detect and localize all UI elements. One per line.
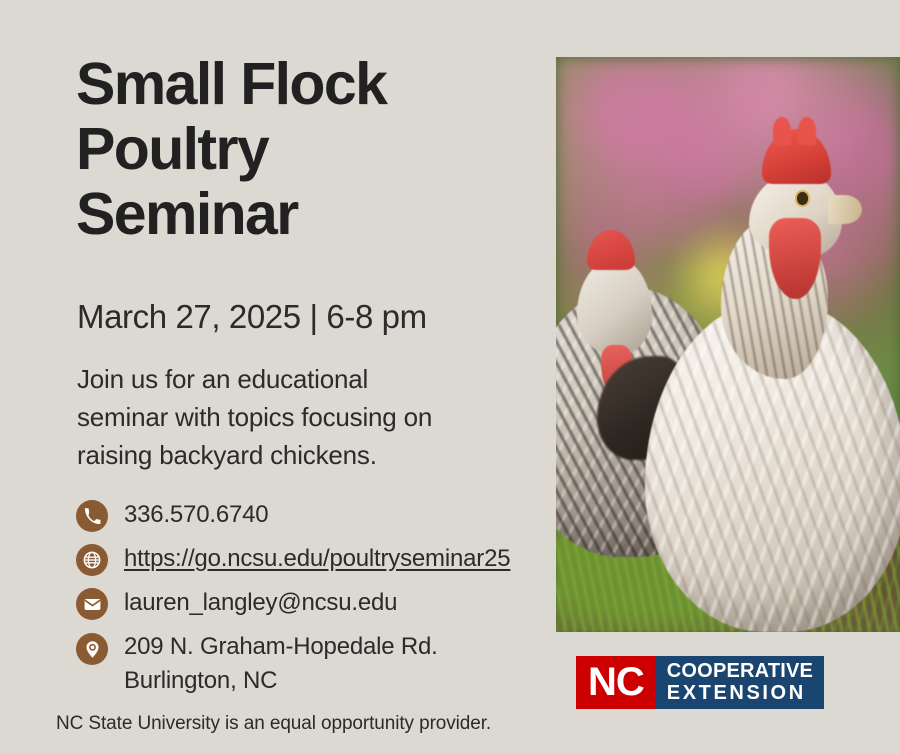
map-pin-icon [76, 633, 108, 665]
envelope-icon [76, 588, 108, 620]
page-title: Small Flock Poultry Seminar [76, 52, 546, 247]
logo-line-cooperative: COOPERATIVE [667, 661, 813, 682]
event-description: Join us for an educational seminar with … [77, 360, 527, 474]
phone-icon [76, 500, 108, 532]
contact-list: 336.570.6740 https://go.ncsu.edu/poultry… [76, 498, 546, 698]
contact-row-website: https://go.ncsu.edu/poultryseminar25 [76, 542, 546, 576]
event-dateline: March 27, 2025 | 6-8 pm [77, 298, 427, 336]
equal-opportunity-statement: NC State University is an equal opportun… [56, 712, 491, 736]
logo-nc-mark: NC [576, 656, 656, 709]
contact-row-address: 209 N. Graham-Hopedale Rd. Burlington, N… [76, 630, 546, 698]
contact-row-phone: 336.570.6740 [76, 498, 546, 532]
hen-front-beak [828, 195, 862, 224]
globe-icon [76, 544, 108, 576]
logo-wordmark: COOPERATIVE EXTENSION [656, 656, 824, 709]
poultry-seminar-flyer: Small Flock Poultry Seminar March 27, 20… [0, 0, 900, 754]
chicken-photo [556, 57, 900, 632]
hen-front-eye [797, 192, 809, 205]
email-address[interactable]: lauren_langley@ncsu.edu [124, 586, 397, 620]
phone-number[interactable]: 336.570.6740 [124, 498, 268, 532]
nc-cooperative-extension-logo: NC COOPERATIVE EXTENSION [576, 656, 824, 709]
website-link[interactable]: https://go.ncsu.edu/poultryseminar25 [124, 542, 510, 576]
hen-rear-head [577, 258, 653, 356]
street-address: 209 N. Graham-Hopedale Rd. Burlington, N… [124, 630, 438, 698]
contact-row-email: lauren_langley@ncsu.edu [76, 586, 546, 620]
logo-line-extension: EXTENSION [667, 682, 813, 704]
